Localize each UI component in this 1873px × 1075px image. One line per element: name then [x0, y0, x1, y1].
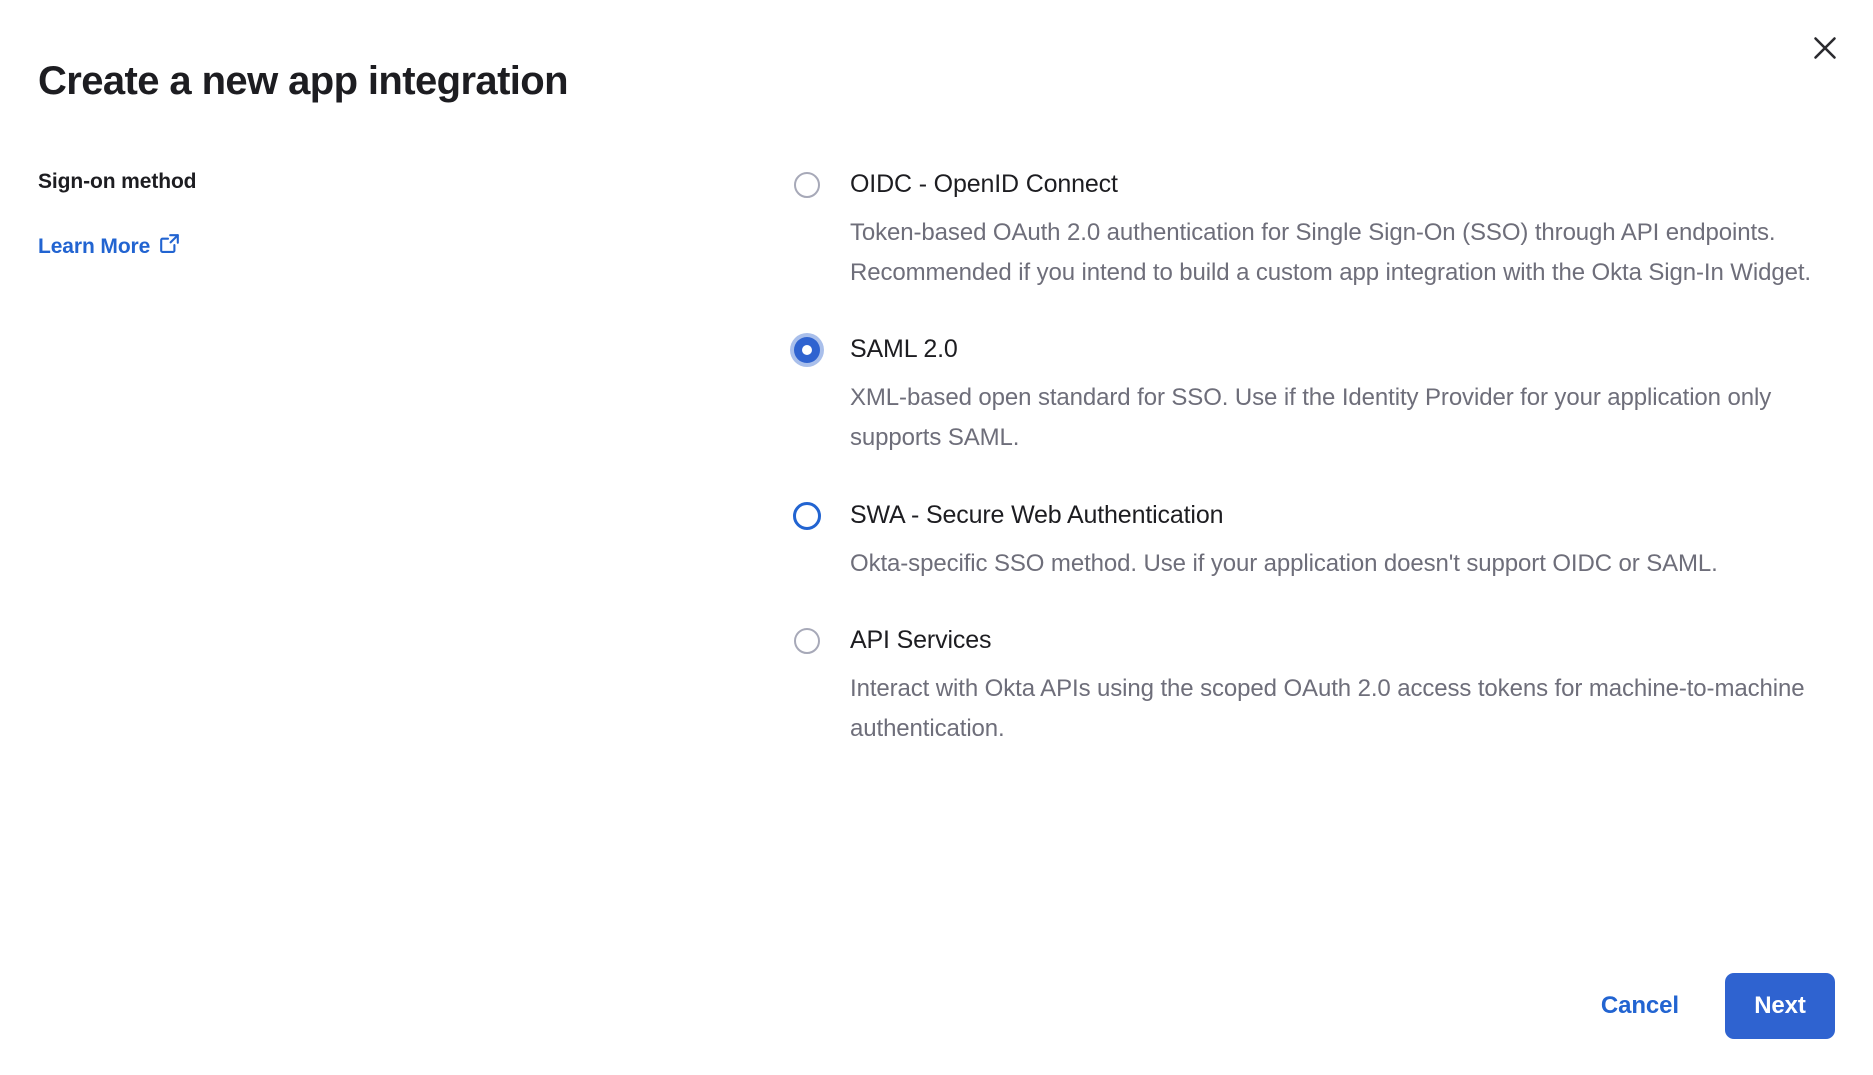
- radio-label-swa: SWA - Secure Web Authentication: [850, 499, 1830, 533]
- learn-more-link[interactable]: Learn More: [38, 233, 180, 260]
- radio-description-swa: Okta-specific SSO method. Use if your ap…: [850, 544, 1830, 584]
- sign-on-method-column: Sign-on method Learn More: [38, 168, 638, 260]
- radio-icon-oidc[interactable]: [794, 172, 820, 198]
- radio-option-swa[interactable]: SWA - Secure Web Authentication Okta-spe…: [790, 499, 1830, 584]
- sign-on-method-label: Sign-on method: [38, 168, 638, 195]
- dialog-footer: Cancel Next: [1597, 973, 1835, 1039]
- radio-option-saml[interactable]: SAML 2.0 XML-based open standard for SSO…: [790, 333, 1830, 458]
- create-app-integration-dialog: Create a new app integration Sign-on met…: [0, 0, 1873, 1075]
- close-icon: [1812, 35, 1838, 61]
- radio-icon-saml[interactable]: [790, 333, 824, 367]
- external-link-icon: [159, 233, 180, 260]
- sign-on-method-radio-group[interactable]: OIDC - OpenID Connect Token-based OAuth …: [790, 168, 1830, 749]
- next-button[interactable]: Next: [1725, 973, 1835, 1039]
- radio-label-api-services: API Services: [850, 624, 1830, 658]
- learn-more-label: Learn More: [38, 235, 150, 259]
- radio-selected-disc: [794, 337, 820, 363]
- page-title: Create a new app integration: [38, 58, 568, 104]
- radio-description-saml: XML-based open standard for SSO. Use if …: [850, 378, 1830, 459]
- cancel-button[interactable]: Cancel: [1597, 986, 1683, 1026]
- radio-icon-swa[interactable]: [793, 502, 821, 530]
- radio-option-api-services[interactable]: API Services Interact with Okta APIs usi…: [790, 624, 1830, 749]
- close-dialog-button[interactable]: [1799, 22, 1851, 74]
- radio-label-saml: SAML 2.0: [850, 333, 1830, 367]
- radio-option-oidc[interactable]: OIDC - OpenID Connect Token-based OAuth …: [790, 168, 1830, 293]
- radio-description-api-services: Interact with Okta APIs using the scoped…: [850, 669, 1830, 750]
- radio-description-oidc: Token-based OAuth 2.0 authentication for…: [850, 213, 1830, 294]
- radio-selected-dot: [802, 345, 812, 355]
- radio-label-oidc: OIDC - OpenID Connect: [850, 168, 1830, 202]
- radio-icon-api-services[interactable]: [794, 628, 820, 654]
